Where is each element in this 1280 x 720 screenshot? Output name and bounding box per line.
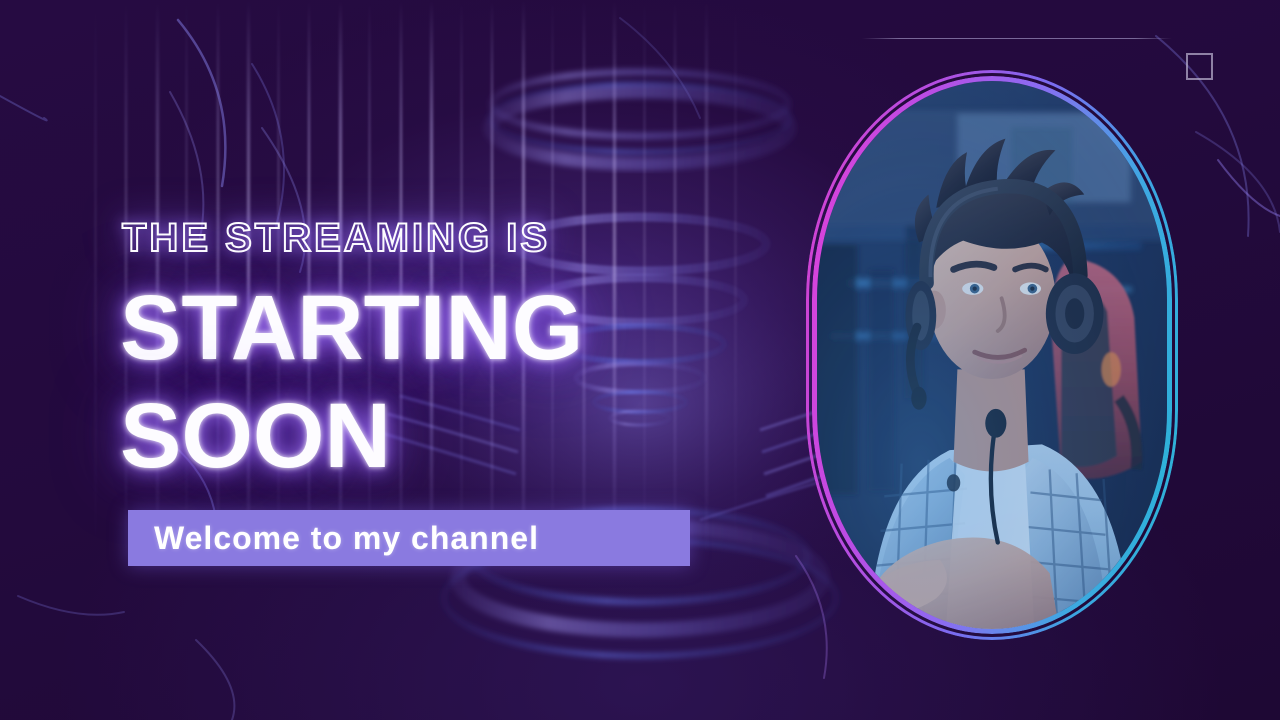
welcome-ribbon-label: Welcome to my channel: [154, 520, 539, 557]
stream-overlay-stage: THE STREAMING IS STARTING SOON Welcome t…: [0, 0, 1280, 720]
welcome-ribbon: Welcome to my channel: [128, 510, 690, 566]
headline-line-2: SOON: [120, 390, 391, 482]
top-hairline: [862, 38, 1172, 39]
headline-group: THE STREAMING IS STARTING SOON Welcome t…: [0, 0, 760, 720]
eyebrow-text: THE STREAMING IS: [122, 218, 550, 258]
hud-square-marker: [1186, 53, 1213, 80]
streamer-portrait-frame: [806, 70, 1178, 640]
headline-line-1: STARTING: [120, 282, 583, 374]
portrait-ring-outer: [806, 70, 1178, 640]
